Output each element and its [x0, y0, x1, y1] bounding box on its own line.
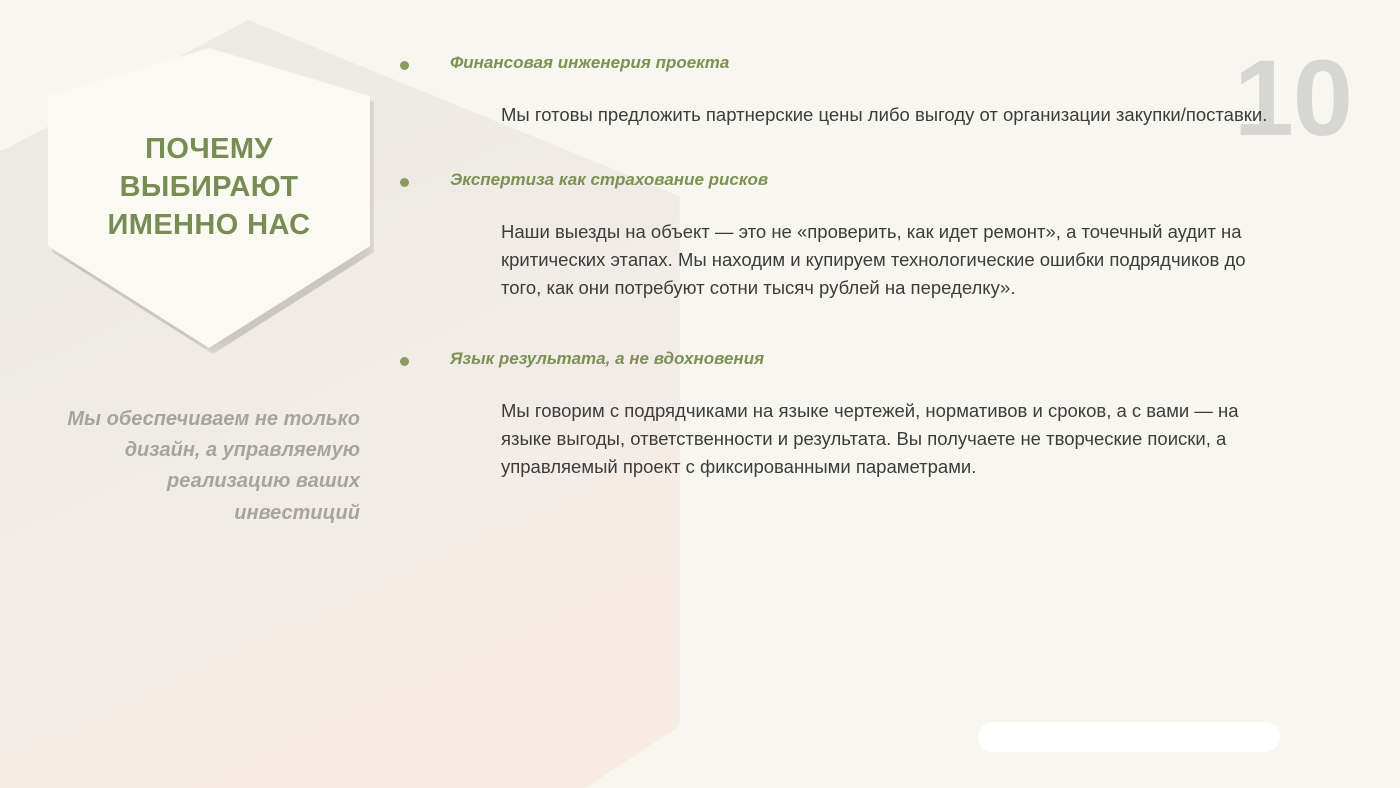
content-block: Язык результата, а не вдохновения Мы гов…: [400, 348, 1320, 481]
block-heading-row: Язык результата, а не вдохновения: [400, 348, 1320, 371]
block-body: Мы готовы предложить партнерские цены ли…: [501, 101, 1291, 129]
block-body: Наши выезды на объект — это не «проверит…: [501, 218, 1291, 302]
block-body: Мы говорим с подрядчиками на языке черте…: [501, 397, 1291, 481]
content-block: Финансовая инженерия проекта Мы готовы п…: [400, 52, 1320, 129]
slide-canvas: ПОЧЕМУ ВЫБИРАЮТ ИМЕННО НАС Мы обеспечива…: [0, 0, 1400, 788]
page-title: ПОЧЕМУ ВЫБИРАЮТ ИМЕННО НАС: [82, 130, 337, 245]
content-block: Экспертиза как страхование рисков Наши в…: [400, 169, 1320, 302]
block-heading-row: Экспертиза как страхование рисков: [400, 169, 1320, 192]
block-heading-row: Финансовая инженерия проекта: [400, 52, 1320, 75]
block-heading: Экспертиза как страхование рисков: [450, 169, 768, 192]
bullet-dot-icon: [400, 357, 409, 366]
bullet-dot-icon: [400, 178, 409, 187]
bullet-dot-icon: [400, 61, 409, 70]
content-list: Финансовая инженерия проекта Мы готовы п…: [400, 52, 1320, 482]
slide-subtitle: Мы обеспечиваем не только дизайн, а упра…: [60, 404, 360, 529]
block-heading: Язык результата, а не вдохновения: [450, 348, 764, 371]
block-heading: Финансовая инженерия проекта: [450, 52, 729, 75]
bottom-right-pill: [978, 722, 1280, 752]
